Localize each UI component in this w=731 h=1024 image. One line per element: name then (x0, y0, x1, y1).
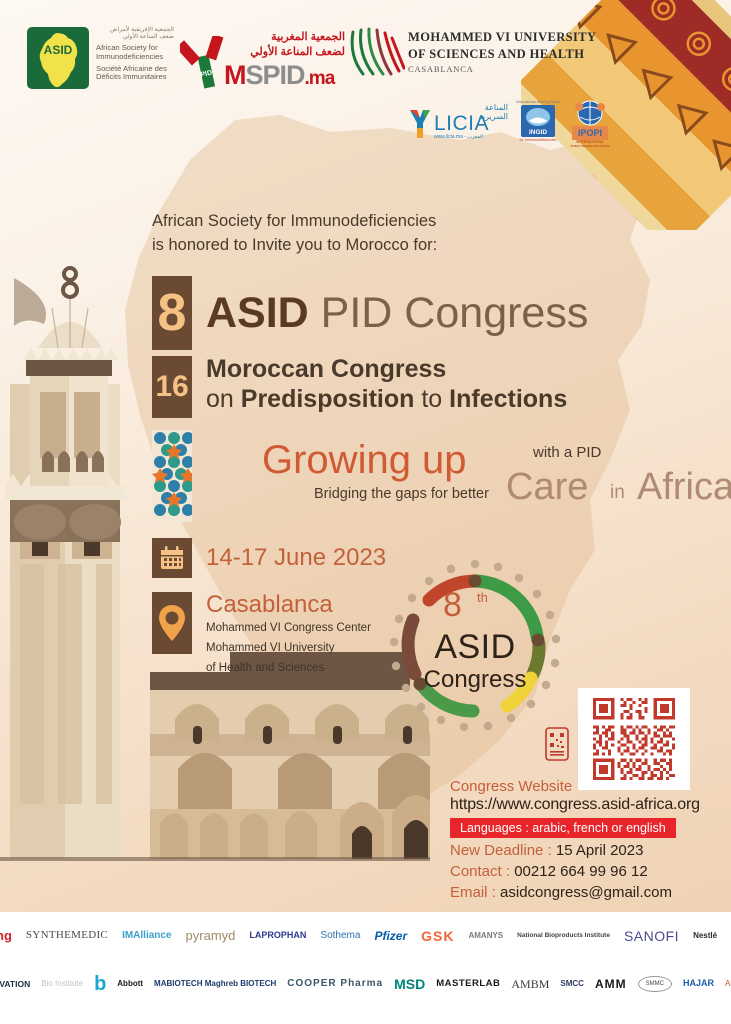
congress-title: ASID PID Congress (206, 276, 588, 350)
sponsor-logo: Nestlé (693, 932, 717, 940)
moroccan-edition-badge: 16 (152, 356, 192, 418)
svg-text:IPOPI: IPOPI (578, 128, 602, 138)
sponsor-row-1: CSL Behring SYNTHEMEDIC IMAlliance pyram… (0, 912, 731, 960)
congress-title-row: 8 ASID PID Congress (152, 276, 588, 350)
theme-row: Growing up with a PID Bridging the gaps … (152, 430, 696, 522)
mspid-antibody-icon: PID (180, 36, 228, 90)
moroccan-title-line2: on Predisposition to Infections (206, 386, 567, 413)
sponsor-logo: GSK (421, 929, 454, 944)
university-line1: MOHAMMED VI UNIVERSITY (408, 30, 596, 45)
ipopi-logo: IPOPI INTERNATIONAL PATIENT ORGANISATION… (566, 98, 614, 148)
theme-text-block: Growing up with a PID Bridging the gaps … (206, 430, 696, 522)
sponsor-logo: HEALTH INNOVATION (0, 980, 30, 989)
qr-code[interactable] (578, 688, 690, 790)
licia-icon (408, 108, 432, 138)
sponsor-logo: Bio Institute (41, 980, 83, 988)
asid-french-name: Société Africaine des Déficits Immunitai… (96, 65, 174, 83)
website-label: Congress Website (450, 778, 725, 795)
moroccan-title-line1: Moroccan Congress (206, 356, 567, 383)
date-row: 14-17 June 2023 (152, 538, 386, 578)
venue-line-2: Mohammed VI University (206, 640, 371, 657)
um6ss-logo-icon (345, 26, 405, 80)
sponsor-logo: Pfizer (374, 930, 407, 943)
theme-africa: Africa (637, 466, 731, 509)
asid-english-name: African Society for Immunodeficiencies (96, 44, 174, 62)
moroccan-congress-row: 16 Moroccan Congress on Predisposition t… (152, 356, 567, 418)
sponsor-logo: HAJAR (683, 979, 714, 988)
congress-poster: ASID الجمعية الإفريقية لأمراض ضعف المناع… (0, 0, 731, 1024)
um6ss-name: MOHAMMED VI UNIVERSITY OF SCIENCES AND H… (408, 30, 596, 74)
licia-logo: المناعة السريرية LICIA www.licia.ma - ال… (408, 102, 508, 144)
contact-phone-line: Contact : 00212 664 99 96 12 (450, 863, 725, 880)
svg-text:INTERNATIONAL: INTERNATIONAL (576, 140, 605, 144)
congress-emblem: 8 th ASID Congress (385, 556, 565, 736)
invitation-line-2: is honored to Invite you to Morocco for: (152, 234, 572, 258)
location-text: Casablanca Mohammed VI Congress Center M… (206, 592, 371, 676)
sponsor-logo: AMANYS (468, 932, 503, 940)
sponsor-logo: Sothema (320, 931, 360, 942)
venue-line-1: Mohammed VI Congress Center (206, 620, 371, 637)
sponsor-logo: SYNTHEMEDIC (26, 930, 108, 942)
theme-with-a-pid: with a PID (533, 444, 601, 461)
venue-line-3: of Health and Sciences (206, 660, 371, 677)
sponsor-logo: Abbott (117, 980, 143, 988)
theme-in: in (610, 482, 625, 504)
sponsor-logo: SMMC (638, 976, 672, 992)
svg-text:ASID: ASID (44, 43, 73, 57)
sponsor-logo: AMM (595, 978, 627, 991)
sponsor-logo: pyramyd (186, 929, 236, 943)
sponsor-logo: LAPROPHAN (249, 931, 306, 940)
mspid-arabic-name: الجمعية المغربية لضعف المناعة الأولي (250, 30, 345, 60)
sponsor-logo: AMBM (511, 978, 549, 991)
sponsor-logo: SANOFI (624, 929, 679, 944)
theme-growing-up: Growing up (262, 438, 467, 483)
mspid-logo: الجمعية المغربية لضعف المناعة الأولي PID… (180, 28, 345, 90)
sponsor-logo: MABIOTECH Maghreb BIOTECH (154, 980, 276, 988)
theme-bridging: Bridging the gaps for better (314, 486, 489, 502)
invitation-line-1: African Society for Immunodeficiencies (152, 210, 572, 234)
sponsor-logo: MASTERLAB (436, 979, 500, 989)
zellige-mosaic-tile (152, 430, 192, 522)
sponsor-logo: MSD (394, 977, 425, 992)
ingid-tagline-top: International Nursing Group (515, 100, 561, 104)
svg-text:PATIENT ORGANISATION FOR PID: PATIENT ORGANISATION FOR PID (571, 145, 610, 148)
location-row: Casablanca Mohammed VI Congress Center M… (152, 592, 371, 676)
asid-arabic-name: الجمعية الإفريقية لأمراض ضعف المناعة الأ… (96, 26, 174, 41)
ingid-wordmark: INGID (521, 129, 555, 136)
ingid-tagline-bottom: for Immunodeficiencies (515, 138, 561, 142)
sponsor-strip: CSL Behring SYNTHEMEDIC IMAlliance pyram… (0, 912, 731, 1024)
emblem-number: 8 (443, 586, 462, 625)
congress-title-rest: PID Congress (309, 289, 589, 337)
licia-wordmark: LICIA (434, 112, 489, 136)
scan-phone-icon (545, 727, 569, 761)
moroccan-congress-title: Moroccan Congress on Predisposition to I… (206, 356, 567, 412)
map-pin-icon (152, 592, 192, 654)
sponsor-logo: CSL Behring (0, 929, 12, 943)
sponsor-logo: IMAlliance (122, 931, 171, 942)
sponsor-row-2: EPIMUNE HEALTH INNOVATION Bio Institute … (0, 960, 731, 1008)
emblem-congress: Congress (385, 666, 565, 694)
sponsor-logo: AMPLLC (725, 980, 731, 988)
emblem-asid: ASID (385, 628, 565, 667)
mspid-wordmark: MSPID.ma (224, 60, 334, 91)
calendar-icon (152, 538, 192, 578)
location-city: Casablanca (206, 592, 371, 617)
sponsor-logo: National Bioproducts Institute (517, 933, 610, 940)
poster-header: ASID الجمعية الإفريقية لأمراض ضعف المناع… (0, 0, 731, 160)
deadline-line: New Deadline : 15 April 2023 (450, 842, 725, 859)
contact-email-line[interactable]: Email : asidcongress@gmail.com (450, 884, 725, 901)
languages-badge: Languages : arabic, french or english (450, 818, 676, 838)
theme-care: Care (506, 466, 588, 509)
sponsor-logo: COOPER Pharma (287, 979, 383, 990)
emblem-text: 8 th ASID Congress (385, 556, 565, 736)
university-city: CASABLANCA (408, 64, 596, 74)
ingid-logo: International Nursing Group INGID for Im… (515, 100, 561, 148)
asid-logo: ASID (27, 27, 89, 89)
congress-date: 14-17 June 2023 (206, 544, 386, 572)
asid-logo-text: الجمعية الإفريقية لأمراض ضعف المناعة الأ… (96, 26, 174, 82)
edition-number-badge: 8 (152, 276, 192, 350)
sponsor-logo: b (94, 974, 106, 995)
emblem-ordinal: th (477, 590, 488, 605)
congress-website-url[interactable]: https://www.congress.asid-africa.org (450, 796, 725, 814)
university-line2: OF SCIENCES AND HEALTH (408, 47, 596, 62)
congress-title-asid: ASID (206, 289, 309, 337)
licia-url: www.licia.ma - المغرب (434, 134, 483, 140)
contact-block: Congress Website https://www.congress.as… (450, 778, 725, 901)
invitation-text: African Society for Immunodeficiencies i… (152, 210, 572, 258)
sponsor-logo: SMCC (560, 980, 584, 988)
ingid-mark: INGID (521, 105, 555, 137)
